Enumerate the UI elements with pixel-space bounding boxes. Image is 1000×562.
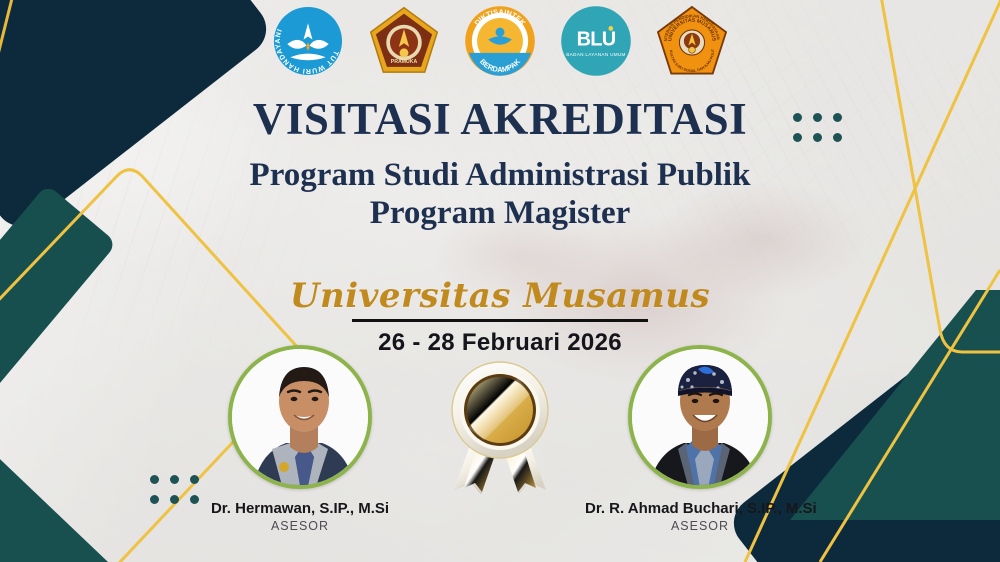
asesor-2-name: Dr. R. Ahmad Buchari, S.IP., M.Si (585, 500, 815, 517)
diktisaintek-berdampak-logo: DIKTISAINTEK BERDAMPAK (463, 4, 537, 78)
award-medal-icon (438, 358, 562, 494)
svg-text:PRAMUKA: PRAMUKA (391, 59, 418, 65)
poster-subtitle-line2: Program Magister (0, 195, 1000, 233)
institution-block: Universitas Musamus 26 - 28 Februari 202… (0, 276, 1000, 357)
svg-text:BLU: BLU (577, 28, 616, 50)
headline-block: VISITASI AKREDITASI Program Studi Admini… (0, 96, 1000, 233)
asesor-card-1: Dr. Hermawan, S.IP., M.Si ASESOR (185, 345, 415, 533)
asesor-1-name: Dr. Hermawan, S.IP., M.Si (185, 500, 415, 517)
event-date-range: 26 - 28 Februari 2026 (0, 329, 1000, 357)
asesor-1-role: ASESOR (185, 519, 415, 533)
blu-logo: BLU BADAN LAYANAN UMUM (559, 4, 633, 78)
poster-subtitle-line1: Program Studi Administrasi Publik (0, 157, 1000, 195)
tut-wuri-handayani-logo: TUT WURI HANDAYANI (271, 4, 345, 78)
svg-text:BADAN LAYANAN UMUM: BADAN LAYANAN UMUM (566, 52, 626, 57)
institution-divider (352, 319, 648, 322)
poster-title: VISITASI AKREDITASI (0, 96, 1000, 143)
asesor-card-2: Dr. R. Ahmad Buchari, S.IP., M.Si ASESOR (585, 345, 815, 533)
asesor-2-role: ASESOR (585, 519, 815, 533)
universitas-musamus-faculty-logo: KEMENTERIAN PENDIDIKAN KEBUDAYAAN RISET … (655, 4, 729, 78)
institution-name: Universitas Musamus (0, 276, 1000, 316)
poster-canvas: TUT WURI HANDAYANI PRAMUKA (0, 0, 1000, 562)
universitas-musamus-pramuka-logo: PRAMUKA (367, 4, 441, 78)
asesor-1-avatar (228, 345, 372, 489)
logo-row: TUT WURI HANDAYANI PRAMUKA (0, 4, 1000, 78)
asesor-2-avatar (628, 345, 772, 489)
